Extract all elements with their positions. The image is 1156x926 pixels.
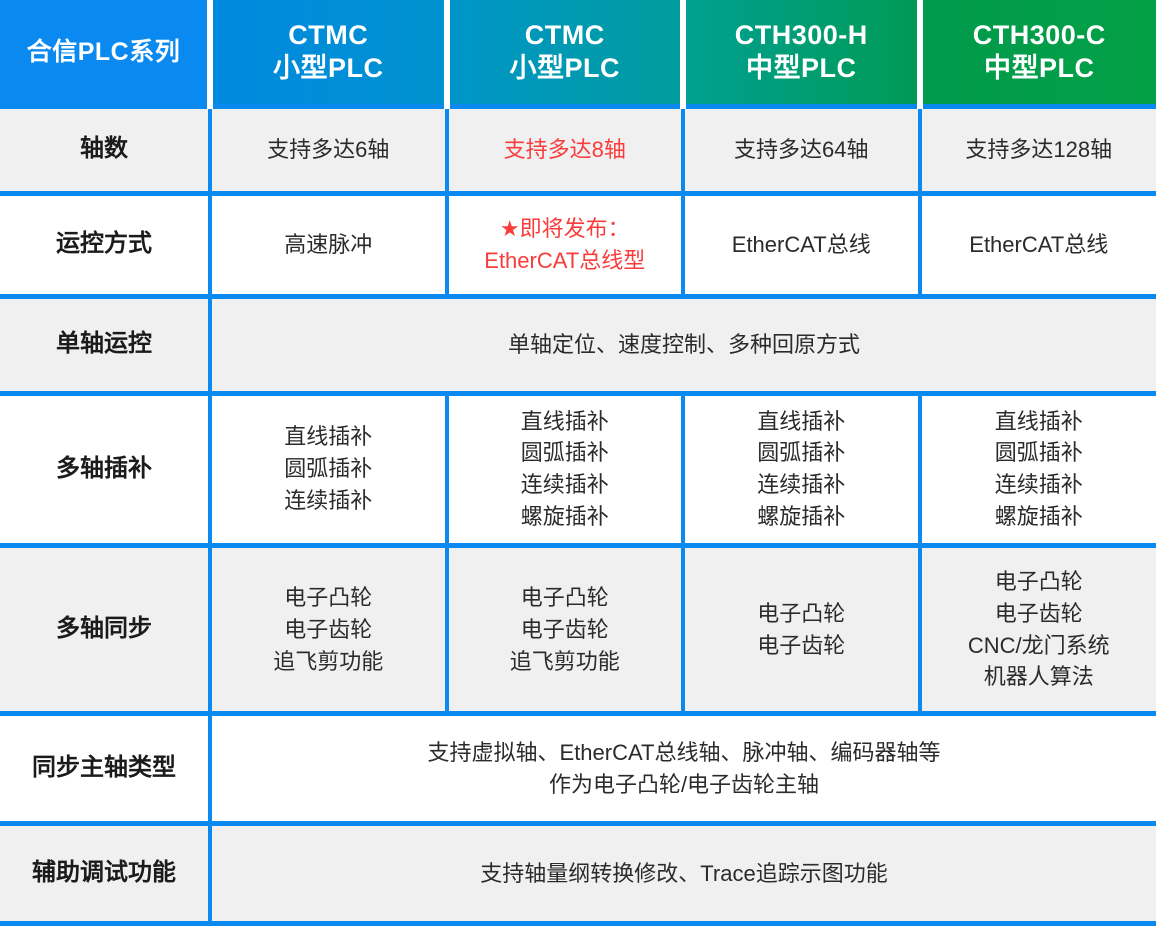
cell-line: 支持多达6轴	[220, 134, 437, 166]
header-column-cth300h: CTH300-H 中型PLC	[683, 0, 920, 106]
cell-line: 追飞剪功能	[457, 646, 674, 678]
cell-line-highlight: 支持多达8轴	[457, 134, 674, 166]
row-label-axes: 轴数	[0, 106, 210, 193]
cell-mode-ctmc2: ★即将发布： EtherCAT总线型	[447, 193, 684, 296]
cell-line: EtherCAT总线	[930, 229, 1149, 261]
row-label-single-axis: 单轴运控	[0, 296, 210, 393]
cell-line: CNC/龙门系统	[930, 630, 1149, 662]
table-row: 多轴插补 直线插补 圆弧插补 连续插补 直线插补 圆弧插补 连续插补 螺旋插补 …	[0, 393, 1156, 546]
table-header: 合信PLC系列 CTMC 小型PLC CTMC 小型PLC CTH300-H 中…	[0, 0, 1156, 106]
cell-axes-cth300h: 支持多达64轴	[683, 106, 920, 193]
cell-line: 电子凸轮	[693, 598, 910, 630]
cell-line: 直线插补	[457, 406, 674, 438]
cell-line: 圆弧插补	[693, 437, 910, 469]
cell-sync-ctmc1: 电子凸轮 电子齿轮 追飞剪功能	[210, 546, 447, 714]
header-column-ctmc-1: CTMC 小型PLC	[210, 0, 447, 106]
cell-line: 直线插补	[220, 421, 437, 453]
header-col4-line1: CTH300-C	[929, 19, 1151, 51]
cell-sync-ctmc2: 电子凸轮 电子齿轮 追飞剪功能	[447, 546, 684, 714]
cell-line: 电子凸轮	[457, 582, 674, 614]
cell-line: 支持多达64轴	[693, 134, 910, 166]
cell-axes-ctmc1: 支持多达6轴	[210, 106, 447, 193]
cell-line: 连续插补	[693, 469, 910, 501]
row-label-motion-mode: 运控方式	[0, 193, 210, 296]
cell-single-axis-merged: 单轴定位、速度控制、多种回原方式	[210, 296, 1156, 393]
cell-debug-merged: 支持轴量纲转换修改、Trace追踪示图功能	[210, 824, 1156, 924]
cell-axes-cth300c: 支持多达128轴	[920, 106, 1156, 193]
cell-line: 螺旋插补	[457, 501, 674, 533]
cell-interp-cth300c: 直线插补 圆弧插补 连续插补 螺旋插补	[920, 393, 1156, 546]
header-series-label: 合信PLC系列	[0, 0, 210, 106]
cell-line: 电子齿轮	[693, 630, 910, 662]
cell-line-highlight: EtherCAT总线型	[457, 245, 674, 277]
cell-interp-ctmc1: 直线插补 圆弧插补 连续插补	[210, 393, 447, 546]
table-row: 轴数 支持多达6轴 支持多达8轴 支持多达64轴 支持多达128轴	[0, 106, 1156, 193]
table-row: 同步主轴类型 支持虚拟轴、EtherCAT总线轴、脉冲轴、编码器轴等 作为电子凸…	[0, 714, 1156, 824]
cell-line: 电子凸轮	[220, 582, 437, 614]
cell-line: 追飞剪功能	[220, 646, 437, 678]
cell-interp-ctmc2: 直线插补 圆弧插补 连续插补 螺旋插补	[447, 393, 684, 546]
cell-line: 连续插补	[457, 469, 674, 501]
header-column-ctmc-2: CTMC 小型PLC	[447, 0, 684, 106]
header-row: 合信PLC系列 CTMC 小型PLC CTMC 小型PLC CTH300-H 中…	[0, 0, 1156, 106]
cell-line: 电子齿轮	[220, 614, 437, 646]
cell-line: 单轴定位、速度控制、多种回原方式	[220, 329, 1148, 361]
header-col1-line2: 小型PLC	[219, 52, 438, 84]
cell-line: 连续插补	[930, 469, 1149, 501]
table-row: 单轴运控 单轴定位、速度控制、多种回原方式	[0, 296, 1156, 393]
header-column-cth300c: CTH300-C 中型PLC	[920, 0, 1156, 106]
header-col4-line2: 中型PLC	[929, 52, 1151, 84]
row-label-debug-features: 辅助调试功能	[0, 824, 210, 924]
table-body: 轴数 支持多达6轴 支持多达8轴 支持多达64轴 支持多达128轴 运控方式 高…	[0, 106, 1156, 924]
cell-line: 高速脉冲	[220, 229, 437, 261]
row-label-master-axis-type: 同步主轴类型	[0, 714, 210, 824]
cell-line: 电子凸轮	[930, 566, 1149, 598]
cell-line: 螺旋插补	[930, 501, 1149, 533]
cell-sync-cth300h: 电子凸轮 电子齿轮	[683, 546, 920, 714]
cell-line: 支持虚拟轴、EtherCAT总线轴、脉冲轴、编码器轴等	[220, 737, 1148, 769]
cell-line: 支持多达128轴	[930, 134, 1149, 166]
cell-axes-ctmc2: 支持多达8轴	[447, 106, 684, 193]
table-row: 多轴同步 电子凸轮 电子齿轮 追飞剪功能 电子凸轮 电子齿轮 追飞剪功能 电子凸…	[0, 546, 1156, 714]
table-row: 辅助调试功能 支持轴量纲转换修改、Trace追踪示图功能	[0, 824, 1156, 924]
cell-line: 直线插补	[693, 406, 910, 438]
row-label-sync: 多轴同步	[0, 546, 210, 714]
cell-mode-ctmc1: 高速脉冲	[210, 193, 447, 296]
cell-master-axis-merged: 支持虚拟轴、EtherCAT总线轴、脉冲轴、编码器轴等 作为电子凸轮/电子齿轮主…	[210, 714, 1156, 824]
cell-line: EtherCAT总线	[693, 229, 910, 261]
cell-line: 连续插补	[220, 485, 437, 517]
cell-line: 电子齿轮	[930, 598, 1149, 630]
plc-comparison-table: 合信PLC系列 CTMC 小型PLC CTMC 小型PLC CTH300-H 中…	[0, 0, 1156, 926]
cell-line: 支持轴量纲转换修改、Trace追踪示图功能	[220, 858, 1148, 890]
cell-interp-cth300h: 直线插补 圆弧插补 连续插补 螺旋插补	[683, 393, 920, 546]
header-col3-line1: CTH300-H	[692, 19, 911, 51]
header-col1-line1: CTMC	[219, 19, 438, 51]
cell-line-highlight-star: ★即将发布：	[457, 213, 674, 245]
cell-mode-cth300c: EtherCAT总线	[920, 193, 1156, 296]
cell-line: 圆弧插补	[220, 453, 437, 485]
table-row: 运控方式 高速脉冲 ★即将发布： EtherCAT总线型 EtherCAT总线 …	[0, 193, 1156, 296]
cell-mode-cth300h: EtherCAT总线	[683, 193, 920, 296]
cell-line: 螺旋插补	[693, 501, 910, 533]
cell-sync-cth300c: 电子凸轮 电子齿轮 CNC/龙门系统 机器人算法	[920, 546, 1156, 714]
header-col3-line2: 中型PLC	[692, 52, 911, 84]
header-col2-line2: 小型PLC	[456, 52, 675, 84]
cell-line: 圆弧插补	[930, 437, 1149, 469]
header-col2-line1: CTMC	[456, 19, 675, 51]
row-label-interpolation: 多轴插补	[0, 393, 210, 546]
cell-line: 圆弧插补	[457, 437, 674, 469]
cell-line: 直线插补	[930, 406, 1149, 438]
cell-line: 机器人算法	[930, 661, 1149, 693]
cell-line: 电子齿轮	[457, 614, 674, 646]
cell-line: 作为电子凸轮/电子齿轮主轴	[220, 769, 1148, 801]
